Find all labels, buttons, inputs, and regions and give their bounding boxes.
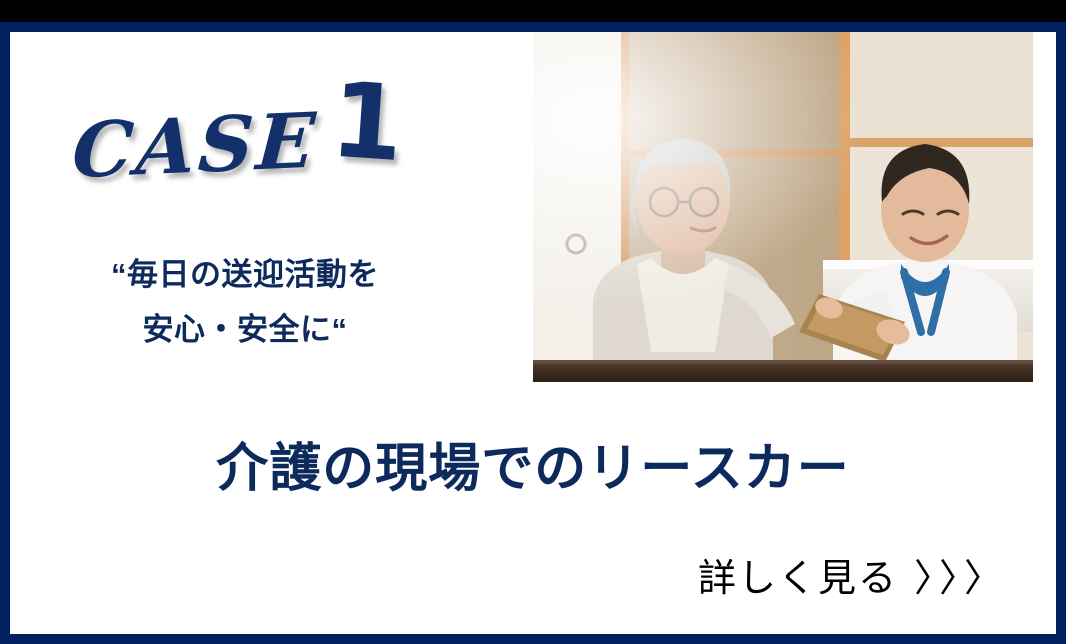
tagline-line-1: “毎日の送迎活動を — [10, 247, 480, 302]
more-details-label: 詳しく見る — [698, 558, 898, 600]
photo-illustration — [533, 32, 1033, 382]
navy-frame-border: CASE1 “毎日の送迎活動を 安心・安全に“ — [0, 22, 1066, 644]
tagline: “毎日の送迎活動を 安心・安全に“ — [10, 247, 480, 357]
left-column: CASE1 “毎日の送迎活動を 安心・安全に“ — [10, 32, 533, 412]
tagline-line-2: 安心・安全に“ — [10, 302, 480, 357]
case-label-word: CASE — [70, 103, 320, 190]
case-label-number: 1 — [328, 67, 410, 176]
card-content-area: CASE1 “毎日の送迎活動を 安心・安全に“ — [10, 32, 1056, 634]
photo-caregiver-and-elderly-woman — [533, 32, 1033, 382]
chevron-right-icon: 〉〉〉 — [914, 558, 1008, 600]
more-details-link[interactable]: 詳しく見る〉〉〉 — [698, 560, 1008, 598]
page-title: 介護の現場でのリースカー — [10, 440, 1056, 500]
case-label: CASE1 — [10, 84, 470, 188]
top-black-band — [0, 0, 1066, 22]
case-study-card: CASE1 “毎日の送迎活動を 安心・安全に“ — [0, 0, 1066, 644]
